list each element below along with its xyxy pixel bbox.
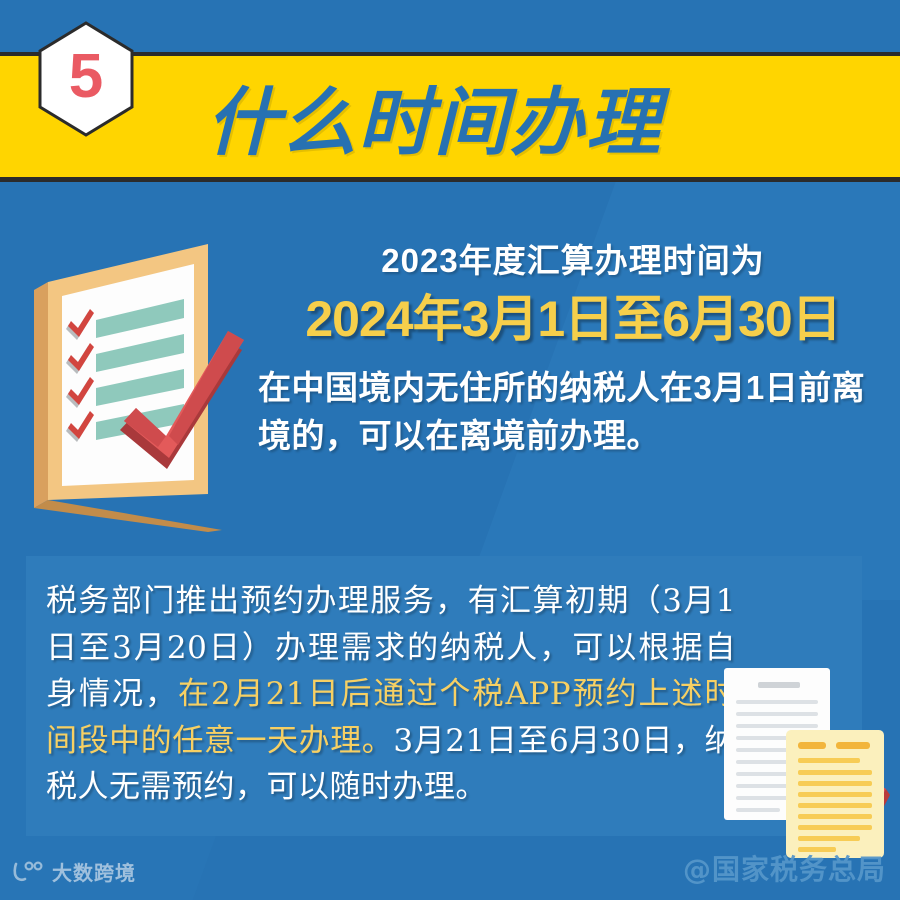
brand-logo-icon [12, 861, 44, 883]
note-text: 税务部门推出预约办理服务，有汇算初期（3月1日至3月20日）办理需求的纳税人，可… [46, 578, 736, 811]
main-text-block: 2023年度汇算办理时间为 2024年3月1日至6月30日 在中国境内无住所的纳… [258, 240, 888, 460]
footer-brand: 大数跨境 [12, 857, 136, 886]
infographic-poster: 5 什么时间办理 [0, 0, 900, 900]
section-number-badge: 5 [36, 21, 136, 137]
header-divider-bottom [0, 177, 900, 182]
main-lead-text: 2023年度汇算办理时间为 [258, 240, 888, 281]
yellow-document-icon [786, 730, 884, 858]
main-date-range: 2024年3月1日至6月30日 [258, 287, 888, 352]
documents-icon [718, 662, 893, 862]
main-body-text: 在中国境内无住所的纳税人在3月1日前离境的，可以在离境前办理。 [258, 364, 888, 460]
checklist-board-illustration [26, 232, 276, 532]
checklist-board-icon [26, 232, 276, 532]
page-title: 什么时间办理 [206, 56, 662, 177]
footer-brand-text: 大数跨境 [52, 857, 136, 886]
footer-watermark: @国家税务总局 [683, 848, 886, 888]
documents-illustration [718, 662, 893, 862]
section-number-text: 5 [36, 21, 136, 137]
